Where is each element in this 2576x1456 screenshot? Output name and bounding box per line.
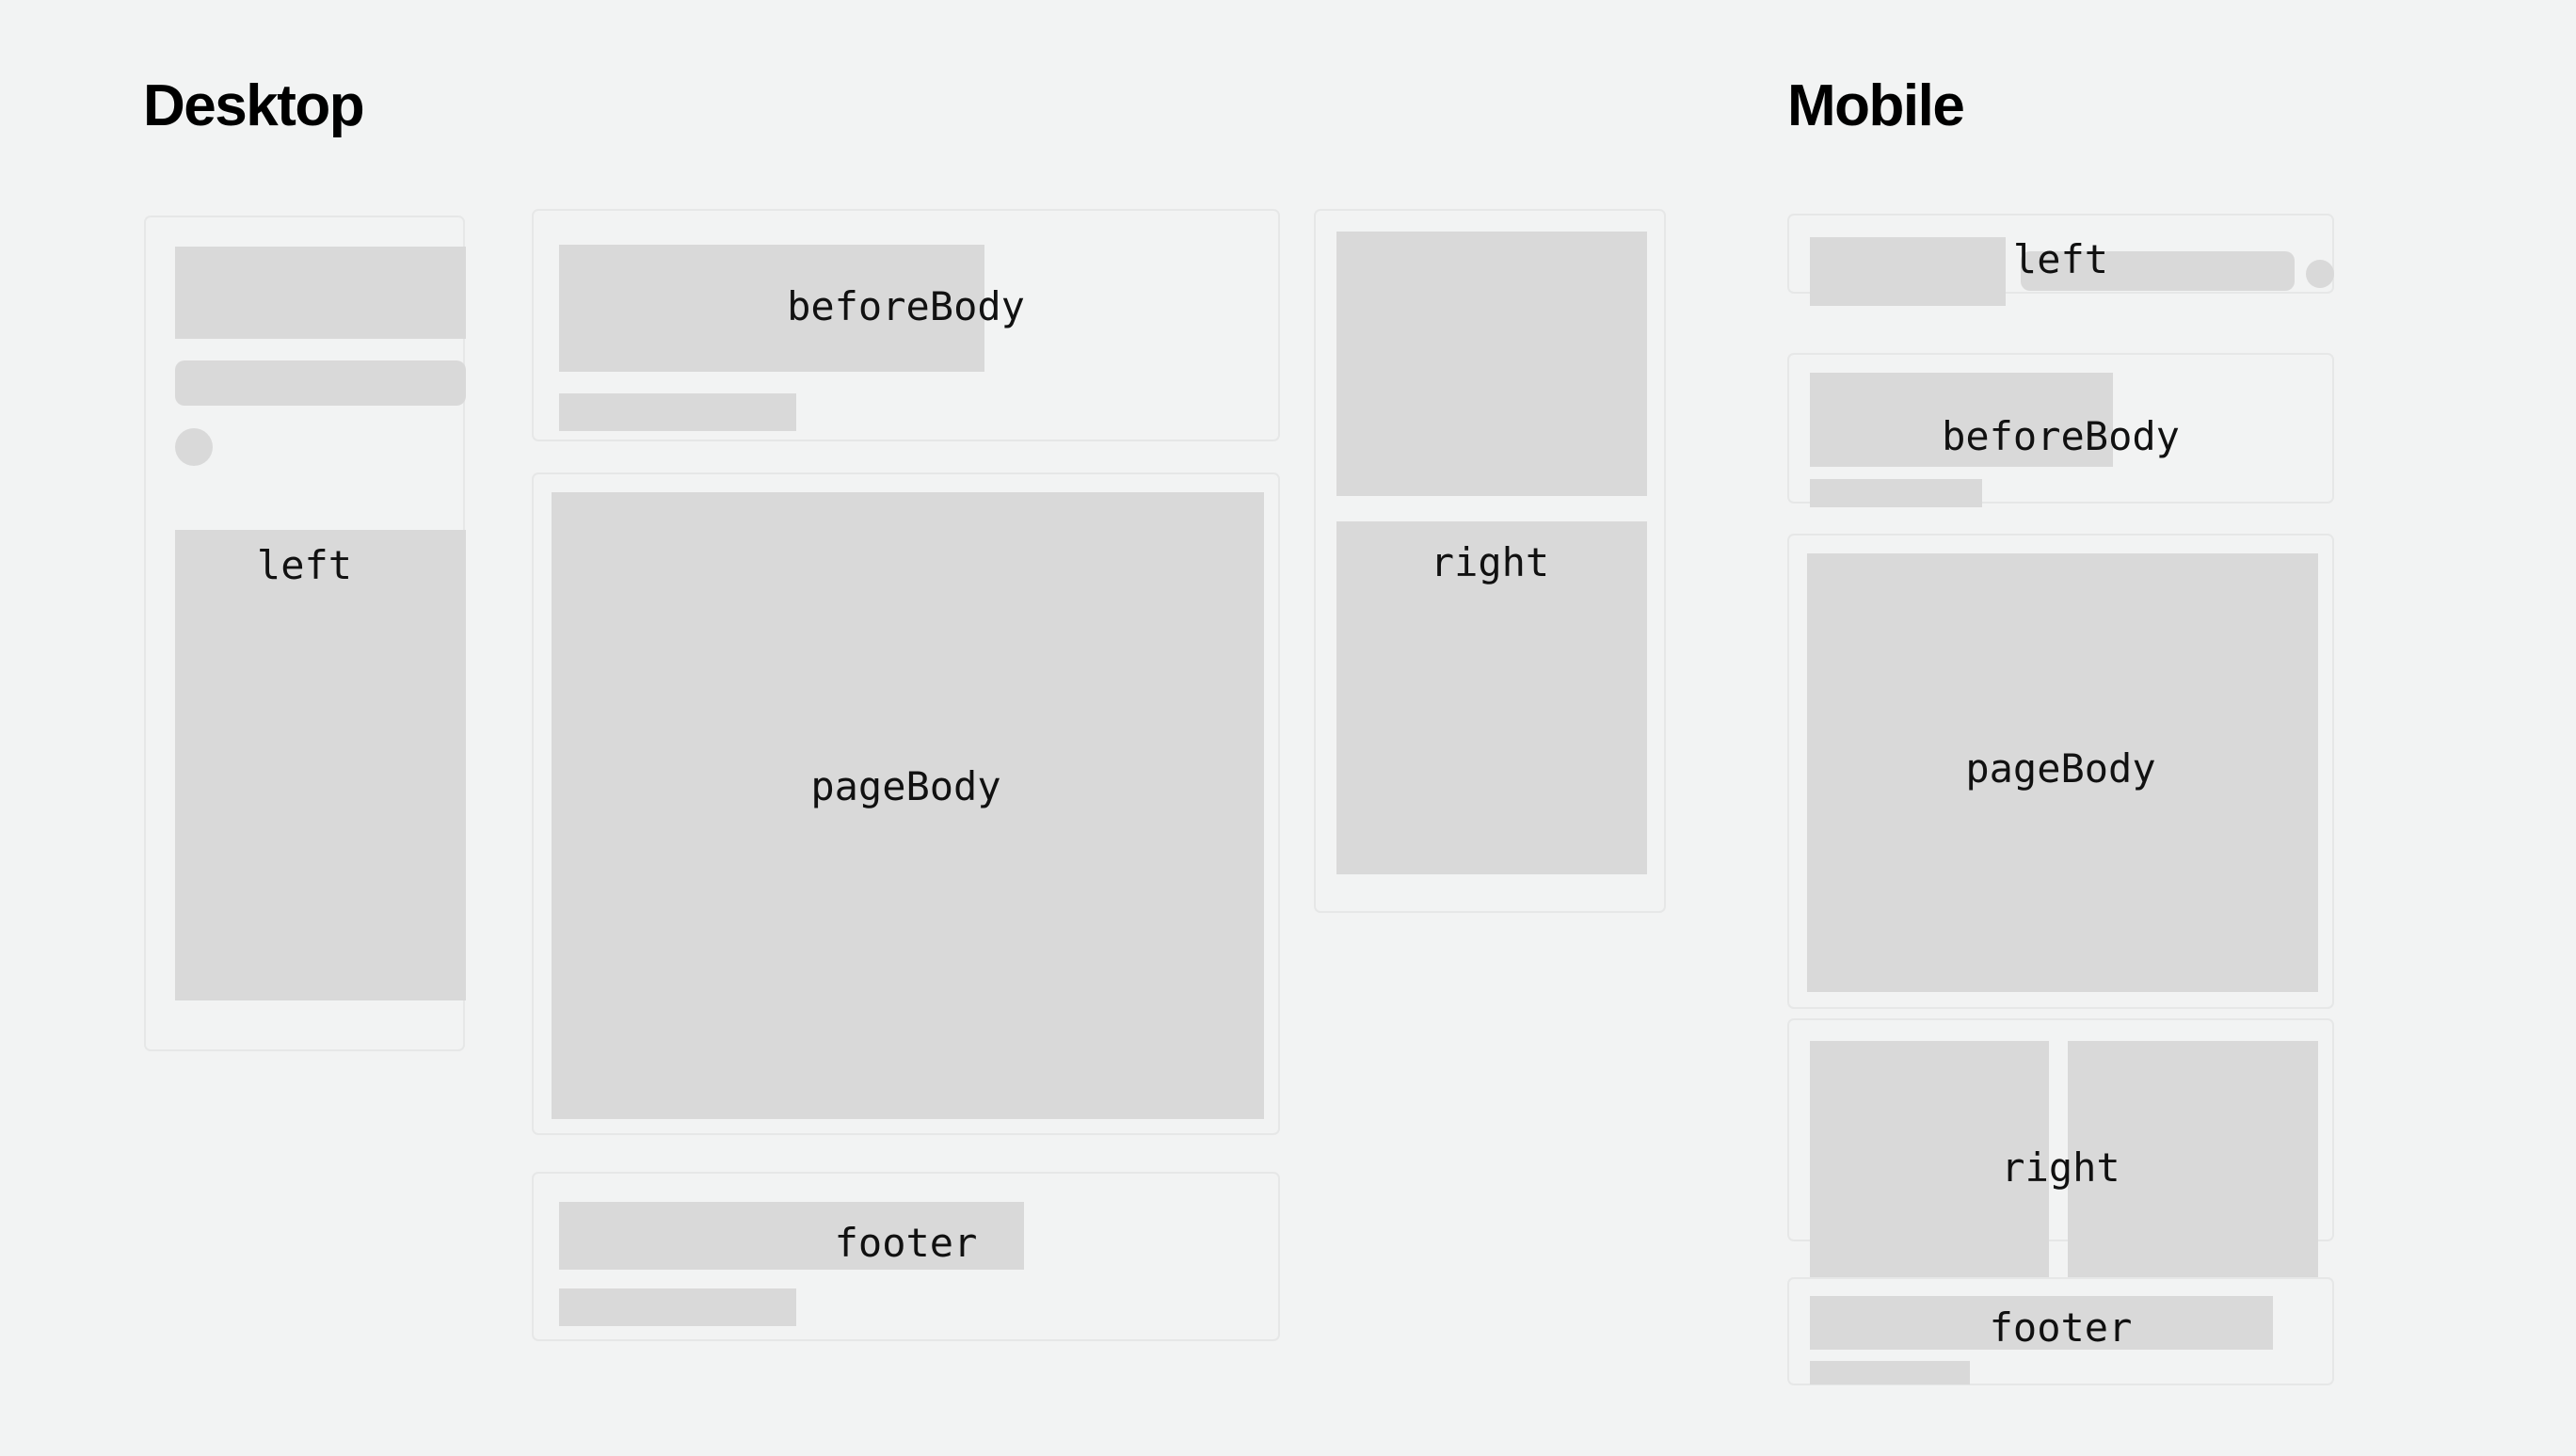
placeholder-block-rounded — [2021, 251, 2295, 291]
placeholder-block-rect — [559, 245, 984, 372]
desktop-pagebody-slot-panel[interactable] — [532, 472, 1280, 1135]
placeholder-block-rect — [1336, 232, 1647, 496]
placeholder-block-large — [175, 530, 466, 1000]
mobile-pagebody-slot-panel[interactable] — [1787, 534, 2334, 1009]
placeholder-block-rect — [1810, 373, 2113, 467]
placeholder-block-bar — [1810, 479, 1982, 507]
placeholder-block-bar — [559, 1288, 796, 1326]
placeholder-block-rect — [1810, 1041, 2049, 1277]
mobile-left-slot-panel[interactable] — [1787, 214, 2334, 294]
mobile-footer-slot-panel[interactable] — [1787, 1277, 2334, 1385]
desktop-beforebody-slot-panel[interactable] — [532, 209, 1280, 441]
placeholder-block-circle — [2306, 260, 2334, 288]
placeholder-block-rounded — [175, 360, 466, 406]
placeholder-block-large — [552, 492, 1264, 1119]
desktop-right-slot-panel[interactable] — [1314, 209, 1666, 913]
placeholder-block-rect — [1810, 237, 2006, 306]
desktop-footer-slot-panel[interactable] — [532, 1172, 1280, 1341]
mobile-right-slot-panel[interactable] — [1787, 1018, 2334, 1241]
desktop-section-title: Desktop — [143, 77, 363, 136]
placeholder-block-bar — [1810, 1361, 1970, 1384]
placeholder-block-rect — [175, 247, 466, 339]
placeholder-block-rect — [1336, 521, 1647, 874]
placeholder-block-rect — [559, 1202, 1024, 1270]
placeholder-block-bar — [559, 393, 796, 431]
placeholder-block-rect — [2068, 1041, 2318, 1277]
mobile-section-title: Mobile — [1787, 77, 1963, 136]
placeholder-block-circle — [175, 428, 213, 466]
desktop-left-slot-panel[interactable] — [144, 216, 465, 1051]
mobile-beforebody-slot-panel[interactable] — [1787, 353, 2334, 504]
placeholder-block-rect — [1810, 1296, 2273, 1350]
placeholder-block-large — [1807, 553, 2318, 992]
